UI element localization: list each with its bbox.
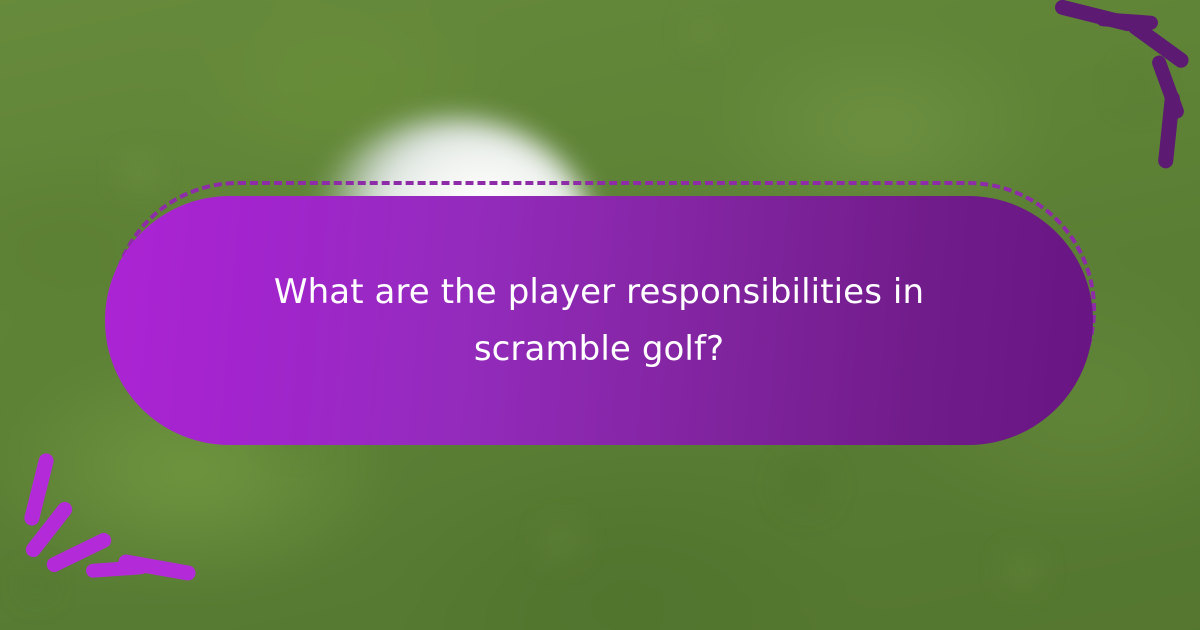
question-card[interactable]: What are the player responsibilities in … bbox=[105, 196, 1093, 445]
page-title: What are the player responsibilities in … bbox=[259, 264, 939, 378]
share-card-canvas: What are the player responsibilities in … bbox=[0, 0, 1200, 630]
